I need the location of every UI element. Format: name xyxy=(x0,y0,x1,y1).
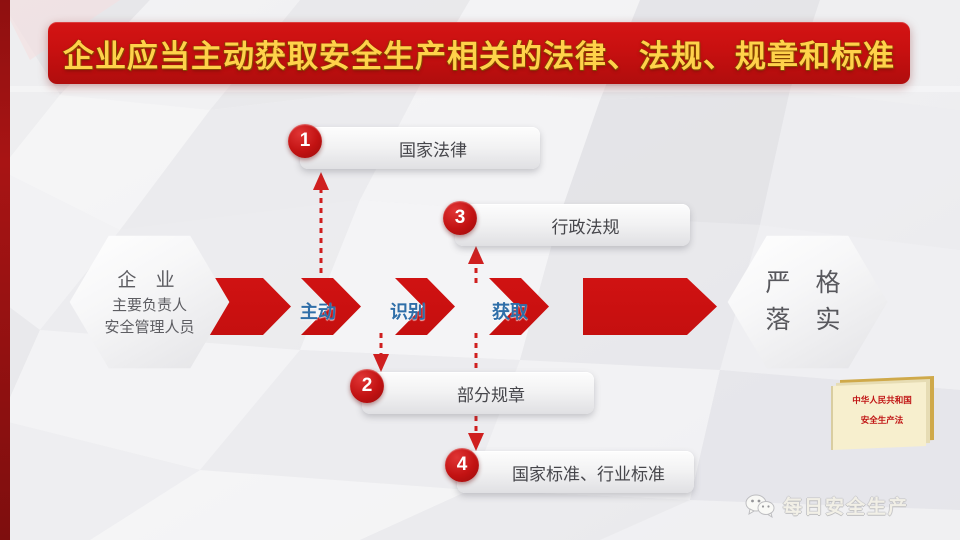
hexagon-enterprise-role-1: 主要负责人 xyxy=(112,295,187,317)
callout-1-label: 国家法律 xyxy=(373,136,467,161)
wechat-watermark: 每日安全生产 xyxy=(745,492,909,519)
callout-1: 1 国家法律 xyxy=(300,127,540,169)
law-book-line-2: 安全生产法 xyxy=(826,414,938,426)
process-step-label-1: 主动 xyxy=(300,298,336,324)
callout-3: 3 行政法规 xyxy=(455,204,690,246)
callout-3-number: 3 xyxy=(443,201,477,235)
wechat-icon xyxy=(745,494,775,518)
callout-4-number: 4 xyxy=(445,448,479,482)
slide-title-banner: 企业应当主动获取安全生产相关的法律、法规、规章和标准 xyxy=(48,22,910,84)
callout-1-number: 1 xyxy=(288,124,322,158)
callout-4-label: 国家标准、行业标准 xyxy=(486,460,665,485)
law-book-icon xyxy=(826,370,938,450)
process-chevron-band xyxy=(205,278,717,335)
process-step-label-3: 获取 xyxy=(492,298,528,324)
callout-2: 2 部分规章 xyxy=(362,372,594,414)
law-book-graphic: 中华人民共和国 安全生产法 xyxy=(826,370,938,450)
hexagon-enterprise-title: 企 业 xyxy=(117,265,181,292)
hexagon-outcome-line-1: 严 格 xyxy=(766,265,850,303)
hexagon-enterprise-role-2: 安全管理人员 xyxy=(104,317,194,339)
callout-2-label: 部分规章 xyxy=(431,381,525,406)
callout-3-label: 行政法规 xyxy=(526,213,620,238)
watermark-label: 每日安全生产 xyxy=(783,492,909,519)
slide-canvas: 企业应当主动获取安全生产相关的法律、法规、规章和标准 企 业 主要负责人 安全管… xyxy=(0,0,960,540)
hexagon-outcome-line-2: 落 实 xyxy=(766,302,850,340)
page-title: 企业应当主动获取安全生产相关的法律、法规、规章和标准 xyxy=(63,31,895,76)
callout-2-number: 2 xyxy=(350,369,384,403)
law-book-line-1: 中华人民共和国 xyxy=(826,394,938,406)
callout-4: 4 国家标准、行业标准 xyxy=(457,451,694,493)
chevron-final-arrow xyxy=(583,278,717,335)
process-step-label-2: 识别 xyxy=(390,298,426,324)
